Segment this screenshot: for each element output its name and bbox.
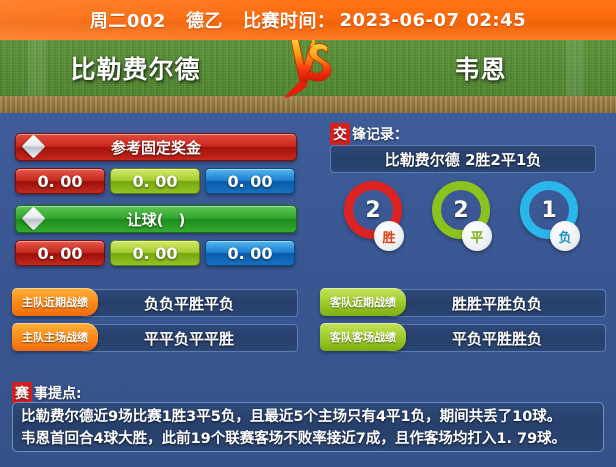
away-recent-record-value: 胜胜平胜负负 xyxy=(388,289,606,317)
handicap-lose-odds[interactable]: 0. 00 xyxy=(205,240,295,266)
h2h-ring-win: 2 胜 xyxy=(341,181,407,265)
away-away-record-row: 客队客场战绩 平负平胜胜负 xyxy=(320,324,604,350)
fixed-bonus-title: 参考固定奖金 xyxy=(111,137,201,158)
vs-icon xyxy=(271,40,345,99)
diamond-icon xyxy=(21,206,45,230)
home-recent-record-value: 负负平胜平负 xyxy=(80,289,298,317)
handicap-win-odds[interactable]: 0. 00 xyxy=(15,240,105,266)
away-team-name: 韦恩 xyxy=(345,50,616,86)
fixed-bonus-lose-odds[interactable]: 0. 00 xyxy=(205,168,295,194)
tips-label: 赛 事提点: xyxy=(12,382,82,404)
fixed-bonus-win-odds[interactable]: 0. 00 xyxy=(15,168,105,194)
away-recent-record-tag: 客队近期战绩 xyxy=(320,288,406,316)
match-number: 周二002 xyxy=(90,7,166,33)
home-recent-record-tag: 主队近期战绩 xyxy=(12,288,98,316)
diamond-icon xyxy=(21,134,45,158)
h2h-badge: 交 xyxy=(330,123,350,145)
h2h-lose-badge: 负 xyxy=(550,221,580,251)
header-title: 周二002 德乙 比赛时间： 2023-06-07 02:45 xyxy=(0,0,616,40)
home-home-record-tag: 主队主场战绩 xyxy=(12,323,98,351)
h2h-ring-draw: 2 平 xyxy=(429,181,495,265)
home-home-record-row: 主队主场战绩 平平负平平胜 xyxy=(12,324,296,350)
h2h-win-badge: 胜 xyxy=(374,221,404,251)
tips-box: 比勒费尔德近9场比赛1胜3平5负，且最近5个主场只有4平1负，期间共丢了10球。… xyxy=(12,402,604,452)
fixed-bonus-draw-odds[interactable]: 0. 00 xyxy=(110,168,200,194)
tips-line-2: 韦恩首回合4球大胜，此前19个联赛客场不败率接近7成，且作客场均打入1. 79球… xyxy=(21,428,595,450)
head-to-head-rings: 2 胜 2 平 1 负 xyxy=(330,181,594,267)
match-preview-card: 周二002 德乙 比赛时间： 2023-06-07 02:45 比勒费尔德 xyxy=(0,0,616,467)
tips-label-text: 事提点: xyxy=(34,383,82,403)
away-recent-record-row: 客队近期战绩 胜胜平胜负负 xyxy=(320,289,604,315)
fixed-bonus-odds-row: 0. 00 0. 00 0. 00 xyxy=(15,168,295,192)
team-row: 比勒费尔德 韦恩 xyxy=(0,40,616,96)
handicap-odds-row: 0. 00 0. 00 0. 00 xyxy=(15,240,295,264)
handicap-title-bar: 让球( ) xyxy=(15,205,297,233)
handicap-draw-odds[interactable]: 0. 00 xyxy=(110,240,200,266)
match-time-value: 2023-06-07 02:45 xyxy=(339,10,526,31)
away-away-record-value: 平负平胜胜负 xyxy=(388,324,606,352)
tips-badge: 赛 xyxy=(12,382,32,404)
pitch-banner: 比勒费尔德 韦恩 xyxy=(0,40,616,113)
head-to-head-summary: 比勒费尔德 2胜2平1负 xyxy=(330,145,596,173)
home-team-name: 比勒费尔德 xyxy=(0,50,271,86)
h2h-label-text: 锋记录： xyxy=(352,124,408,144)
match-time-label: 比赛时间： xyxy=(243,7,336,33)
league-name: 德乙 xyxy=(186,7,223,33)
h2h-draw-badge: 平 xyxy=(462,221,492,251)
home-recent-record-row: 主队近期战绩 负负平胜平负 xyxy=(12,289,296,315)
fixed-bonus-title-bar: 参考固定奖金 xyxy=(15,133,297,161)
handicap-title: 让球( ) xyxy=(127,209,186,230)
tips-line-1: 比勒费尔德近9场比赛1胜3平5负，且最近5个主场只有4平1负，期间共丢了10球。 xyxy=(21,406,595,428)
head-to-head-label: 交 锋记录： xyxy=(330,123,408,145)
home-home-record-value: 平平负平平胜 xyxy=(80,324,298,352)
away-away-record-tag: 客队客场战绩 xyxy=(320,323,406,351)
header-bar: 周二002 德乙 比赛时间： 2023-06-07 02:45 xyxy=(0,0,616,40)
h2h-ring-lose: 1 负 xyxy=(517,181,583,265)
